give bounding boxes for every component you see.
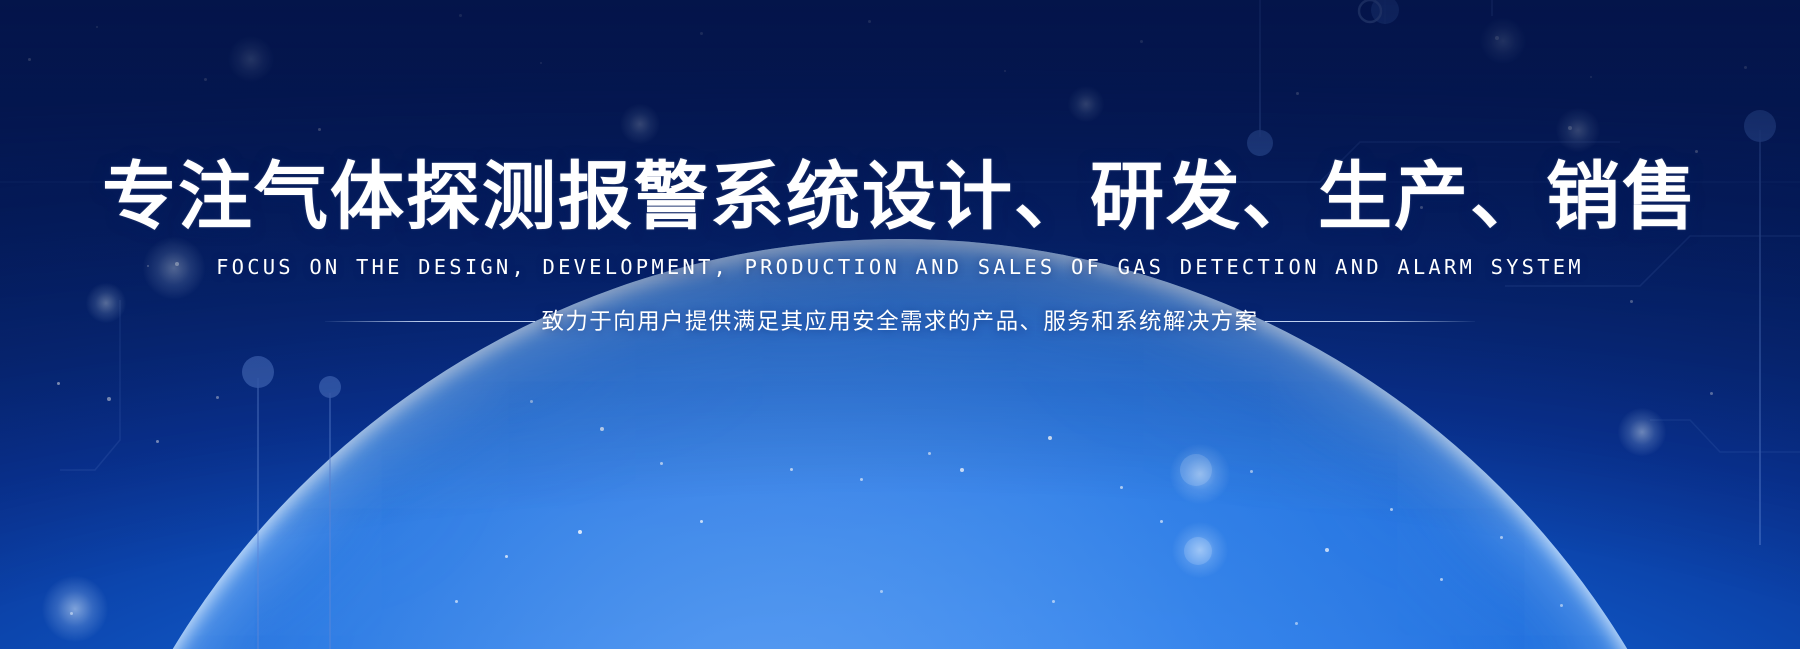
banner-headline: 专注气体探测报警系统设计、研发、生产、销售 <box>0 160 1800 234</box>
banner-subheadline-english: FOCUS ON THE DESIGN, DEVELOPMENT, PRODUC… <box>0 256 1800 279</box>
tagline-rule-right <box>1265 321 1475 322</box>
tagline-rule-left <box>325 321 535 322</box>
banner-tagline: 致力于向用户提供满足其应用安全需求的产品、服务和系统解决方案 <box>535 308 1264 335</box>
banner-text-block: 专注气体探测报警系统设计、研发、生产、销售 FOCUS ON THE DESIG… <box>0 0 1800 335</box>
hero-banner: 专注气体探测报警系统设计、研发、生产、销售 FOCUS ON THE DESIG… <box>0 0 1800 649</box>
banner-tagline-row: 致力于向用户提供满足其应用安全需求的产品、服务和系统解决方案 <box>0 308 1800 335</box>
